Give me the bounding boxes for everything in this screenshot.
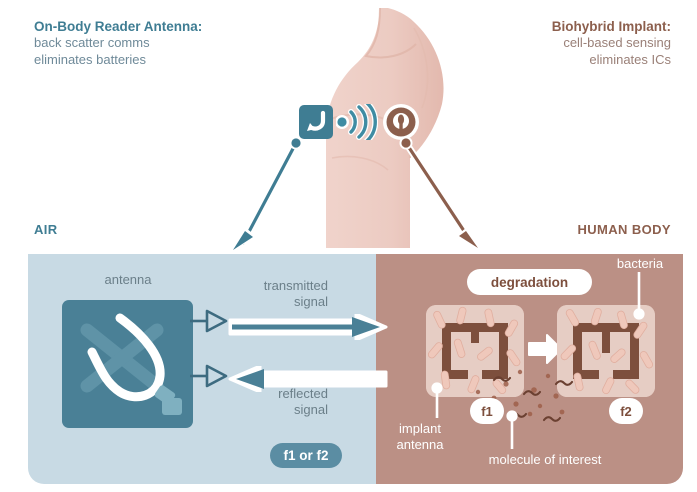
header-right-line1: cell-based sensing [552, 35, 671, 52]
antenna-caption: antenna [58, 272, 198, 287]
bacteria-label: bacteria [592, 256, 688, 271]
header-left-block: On-Body Reader Antenna: back scatter com… [34, 18, 202, 69]
air-label: AIR [34, 222, 58, 237]
transmitted-signal-arrow [228, 314, 388, 340]
header-right-line2: eliminates ICs [552, 52, 671, 69]
header-left-line2: eliminates batteries [34, 52, 202, 69]
reader-antenna-icon [298, 104, 334, 140]
transmitted-signal-line2: signal [228, 294, 328, 310]
transmitted-signal-label: transmitted signal [228, 278, 328, 311]
state-badge-f2: f2 [609, 398, 643, 424]
state-badge-f1: f1 [470, 398, 504, 424]
header-right-block: Biohybrid Implant: cell-based sensing el… [552, 18, 671, 69]
header-right-title: Biohybrid Implant: [552, 18, 671, 35]
reflected-signal-line1: reflected [228, 386, 328, 402]
implant-antenna-label: implant antenna [374, 421, 466, 454]
diagram-canvas: On-Body Reader Antenna: back scatter com… [0, 0, 697, 492]
molecule-of-interest-label: molecule of interest [455, 452, 635, 467]
transmitted-signal-line1: transmitted [228, 278, 328, 294]
reader-antenna-illustration [62, 300, 193, 428]
implant-capsule-before [426, 305, 524, 397]
human-body-label: HUMAN BODY [577, 222, 671, 237]
implant-icon [381, 102, 421, 142]
signal-waves-icon [336, 104, 378, 140]
header-left-line1: back scatter comms [34, 35, 202, 52]
reflected-signal-line2: signal [228, 402, 328, 418]
frequency-badge: f1 or f2 [270, 443, 342, 468]
implant-capsule-after [557, 305, 655, 397]
degradation-badge: degradation [467, 269, 592, 295]
header-left-title: On-Body Reader Antenna: [34, 18, 202, 35]
implant-antenna-label-line2: antenna [374, 437, 466, 453]
implant-antenna-label-line1: implant [374, 421, 466, 437]
reflected-signal-label: reflected signal [228, 386, 328, 419]
